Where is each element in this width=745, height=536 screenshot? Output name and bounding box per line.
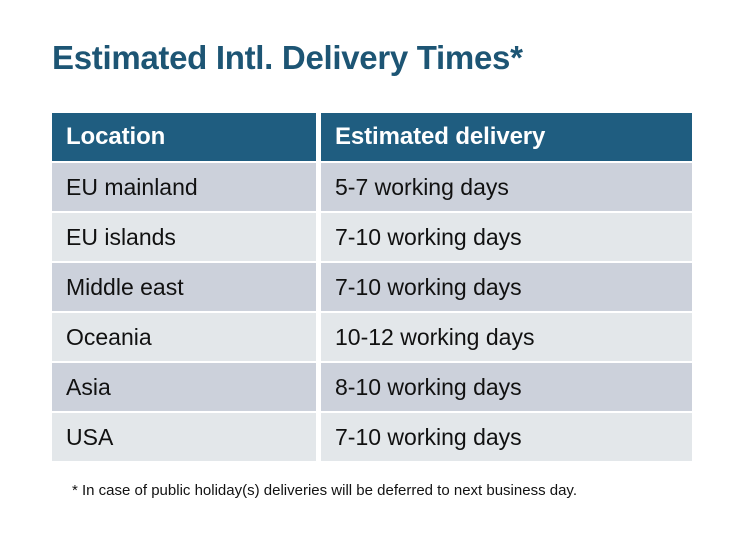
cell-location: USA xyxy=(52,413,316,461)
cell-location: EU mainland xyxy=(52,163,316,211)
cell-location: Asia xyxy=(52,363,316,411)
footnote-text: * In case of public holiday(s) deliverie… xyxy=(72,481,577,501)
cell-location: Middle east xyxy=(52,263,316,311)
delivery-times-page: Estimated Intl. Delivery Times* Location… xyxy=(0,0,745,536)
cell-delivery: 10-12 working days xyxy=(321,313,692,361)
table-row: Oceania 10-12 working days xyxy=(52,313,692,361)
table-row: EU mainland 5-7 working days xyxy=(52,163,692,211)
table-header-row: Location Estimated delivery xyxy=(52,113,692,161)
cell-delivery: 8-10 working days xyxy=(321,363,692,411)
table-row: Middle east 7-10 working days xyxy=(52,263,692,311)
delivery-times-table: Location Estimated delivery EU mainland … xyxy=(52,113,692,461)
table-row: Asia 8-10 working days xyxy=(52,363,692,411)
cell-delivery: 7-10 working days xyxy=(321,263,692,311)
cell-delivery: 5-7 working days xyxy=(321,163,692,211)
table-row: USA 7-10 working days xyxy=(52,413,692,461)
column-header-location: Location xyxy=(52,113,316,161)
page-title: Estimated Intl. Delivery Times* xyxy=(52,36,523,80)
cell-location: EU islands xyxy=(52,213,316,261)
cell-delivery: 7-10 working days xyxy=(321,413,692,461)
cell-delivery: 7-10 working days xyxy=(321,213,692,261)
cell-location: Oceania xyxy=(52,313,316,361)
table-row: EU islands 7-10 working days xyxy=(52,213,692,261)
column-header-estimated-delivery: Estimated delivery xyxy=(321,113,692,161)
